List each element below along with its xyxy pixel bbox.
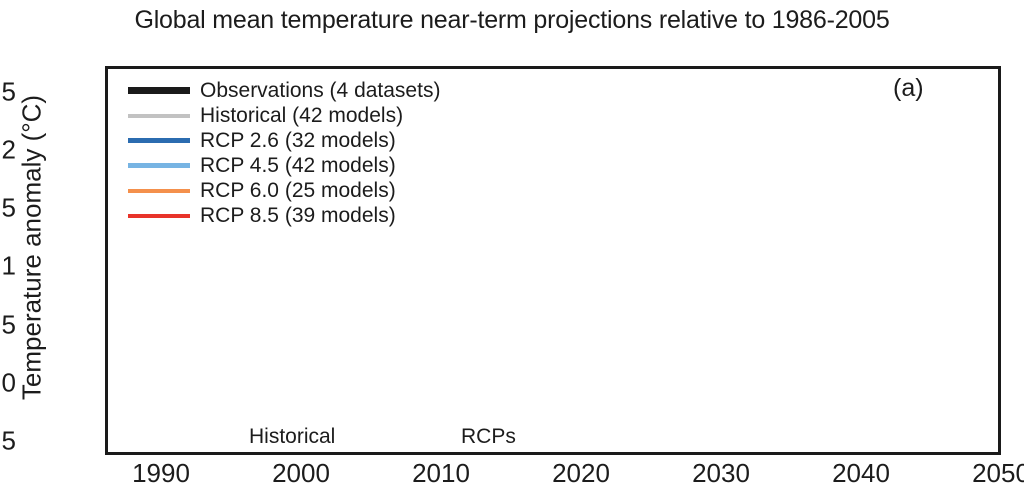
legend-label: RCP 2.6 (32 models) (200, 129, 396, 153)
x-tick-4: 2030 (692, 458, 750, 489)
chart-title: Global mean temperature near-term projec… (0, 6, 1024, 35)
legend-item-2: RCP 2.6 (32 models) (128, 128, 440, 153)
legend-label: Observations (4 datasets) (200, 79, 440, 103)
x-tick-5: 2040 (832, 458, 890, 489)
y-tick-1: 0 (0, 367, 16, 398)
x-tick-1: 2000 (272, 458, 330, 489)
legend-item-0: Observations (4 datasets) (128, 78, 440, 103)
x-tick-3: 2020 (552, 458, 610, 489)
legend-item-3: RCP 4.5 (42 models) (128, 153, 440, 178)
x-tick-2: 2010 (412, 458, 470, 489)
y-tick-2: 0.5 (0, 309, 16, 340)
legend-item-5: RCP 8.5 (39 models) (128, 203, 440, 228)
y-tick-5: 2 (0, 134, 16, 165)
legend-swatch-icon (128, 138, 190, 143)
annotation-rcps: RCPs (461, 425, 516, 449)
chart-legend: Observations (4 datasets)Historical (42 … (128, 78, 440, 228)
legend-item-4: RCP 6.0 (25 models) (128, 178, 440, 203)
y-tick-4: 1.5 (0, 193, 16, 224)
y-tick-6: 2.5 (0, 76, 16, 107)
legend-label: Historical (42 models) (200, 104, 403, 128)
x-tick-6: 2050 (972, 458, 1024, 489)
annotation-historical: Historical (249, 425, 335, 449)
legend-label: RCP 6.0 (25 models) (200, 179, 396, 203)
legend-swatch-icon (128, 214, 190, 218)
x-tick-0: 1990 (132, 458, 190, 489)
legend-swatch-icon (128, 87, 190, 94)
panel-label: (a) (893, 74, 924, 103)
legend-item-1: Historical (42 models) (128, 103, 440, 128)
legend-swatch-icon (128, 189, 190, 193)
legend-swatch-icon (128, 163, 190, 168)
y-axis-label: Temperature anomaly (°C) (17, 48, 48, 448)
y-tick-0: −0.5 (0, 426, 16, 457)
legend-swatch-icon (128, 114, 190, 118)
legend-label: RCP 4.5 (42 models) (200, 154, 396, 178)
y-tick-3: 1 (0, 251, 16, 282)
legend-label: RCP 8.5 (39 models) (200, 204, 396, 228)
